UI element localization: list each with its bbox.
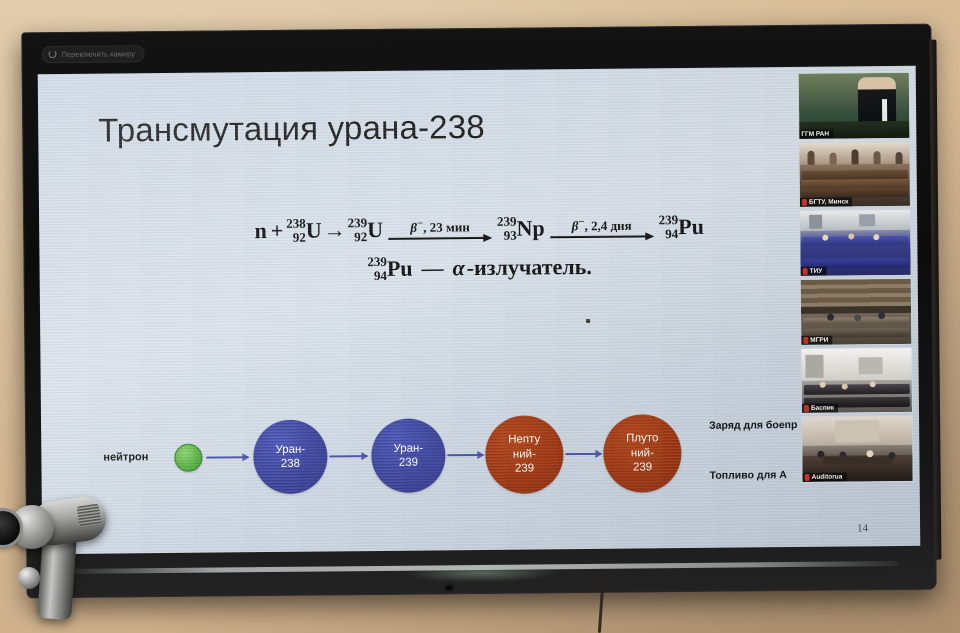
node-np239-line3: 239 [515,462,534,477]
np239-charge: 93 [497,228,517,241]
formula-plus: + [271,218,284,244]
nuclide-pu239: 239 94 Pu [659,213,704,240]
use-text-fuel: Топливо для А [710,469,787,482]
pu239-charge: 94 [659,227,679,240]
np239-mass: 239 [497,215,517,228]
u238-charge: 92 [286,230,306,243]
video-tile-caption: МГРИ [801,335,832,344]
video-tile-auditorua[interactable]: Auditorua [801,415,914,483]
node-np239-line1: Непту [508,433,540,448]
pu239b-mass: 239 [367,255,387,268]
np239-symbol: Np [516,215,544,241]
formula-line-2: 239 94 Pu — α -излучатель. [159,251,799,284]
switch-camera-label: Переключить камеру [61,49,135,59]
video-tile-baspik[interactable]: Баспик [800,347,913,415]
arrow-capture: → [323,217,347,243]
tile-label-1: ГГМ РАН [801,130,829,137]
alpha-symbol: α [452,255,464,281]
slide-page-number: 14 [857,522,868,534]
tile-label-2: БГТУ, Минск [809,199,849,206]
formula-dash: — [421,255,443,281]
conference-camera [0,481,130,611]
u239-symbol: U [367,217,383,243]
node-u238-line2: 238 [281,457,300,472]
chain-input-label: нейтрон [103,451,148,463]
pu239b-symbol: Pu [387,255,413,281]
video-tile-bgtu-minsk[interactable]: БГТУ, Минск [798,141,911,209]
camera-adjust-knob[interactable] [18,567,40,589]
u239-charge: 92 [348,230,368,243]
decay2-shaft [550,231,654,244]
node-pu239-line1: Плуто [626,432,658,447]
node-np239-line2: ний- [513,447,536,462]
node-pu239-line3: 239 [633,461,652,476]
switch-camera-button[interactable]: Переключить камеру [41,45,145,63]
tile-label-3: ТИУ [810,268,823,275]
video-tile-tiu[interactable]: ТИУ [799,209,912,277]
mic-icon [803,268,808,275]
nuclide-u238: 238 92 U [286,217,322,244]
mic-icon [802,199,807,206]
decay-arrow-2: β−, 2,4 дня [550,215,654,243]
chain-connector-4 [565,453,601,455]
node-pu239-line2: ний- [631,446,654,461]
tile-label-4: МГРИ [810,336,828,343]
tv-brand-logo [406,563,556,582]
node-u239-line2: 239 [399,456,418,471]
room-scene: Переключить камеру Трансмутация урана-23… [0,0,960,633]
app-toolbar: Переключить камеру [41,43,145,64]
tile-label-5: Баспик [811,405,834,412]
nuclide-np239: 239 93 Np [497,215,545,242]
video-tile-caption: Баспик [802,404,838,413]
chain-node-plutonium-239[interactable]: Плуто ний- 239 [603,414,682,493]
decay-chain-diagram: нейтрон Уран- 238 Уран- 239 [41,396,920,529]
page-title: Трансмутация урана-238 [98,108,485,150]
u239-mass: 239 [348,216,368,229]
chain-node-neutron[interactable] [174,444,202,472]
nuclide-pu239-second: 239 94 Pu [367,255,412,282]
decay1-shaft [388,232,492,245]
video-tile-caption: ТИУ [801,267,827,276]
node-u239-line1: Уран- [393,441,423,456]
tile-label-6: Auditorua [812,474,843,481]
nuclear-reaction-formula: n + 238 92 U → 239 92 [159,212,800,284]
video-tile-mgri[interactable]: МГРИ [800,278,913,346]
pu239b-charge: 94 [367,268,387,281]
video-tile-caption: БГТУ, Минск [800,198,853,208]
pu239-symbol: Pu [678,213,704,239]
chain-node-uranium-239[interactable]: Уран- 239 [371,418,446,493]
formula-line-1: n + 238 92 U → 239 92 [159,212,799,245]
pu239-mass: 239 [659,213,679,226]
mic-icon [803,337,808,344]
chain-node-uranium-238[interactable]: Уран- 238 [253,419,328,494]
chain-connector-3 [447,454,483,456]
stray-mark [586,319,590,323]
nuclide-u239: 239 92 U [348,216,384,243]
mic-icon [804,405,809,412]
use-text-weapon: Заряд для боепр [709,419,797,432]
chain-connector-1 [206,456,248,458]
node-u238-line1: Уран- [275,442,305,457]
tv-bezel-right-edge [929,40,941,560]
presentation-slide: Трансмутация урана-238 n + 238 92 U → [38,66,921,554]
video-tile-ggm-ran[interactable]: ГГМ РАН [798,72,911,140]
chain-connector-2 [329,455,367,457]
television: Переключить камеру Трансмутация урана-23… [21,24,936,599]
mic-icon [805,474,810,481]
video-tile-caption: Auditorua [803,473,847,482]
u238-mass: 238 [286,217,306,230]
camera-vents [77,504,102,527]
formula-neutron: n [254,218,266,244]
tv-ir-sensor [445,585,452,590]
refresh-icon [48,50,56,58]
emitter-text: -излучатель. [467,253,592,280]
video-tile-caption: ГГМ РАН [799,129,833,138]
video-conference-filmstrip: ГГМ РАН [798,72,914,483]
decay-arrow-1: β−, 23 мин [388,217,492,245]
chain-node-neptunium-239[interactable]: Непту ний- 239 [485,415,564,494]
camera-arm-segment [37,534,77,620]
u238-symbol: U [306,217,322,243]
